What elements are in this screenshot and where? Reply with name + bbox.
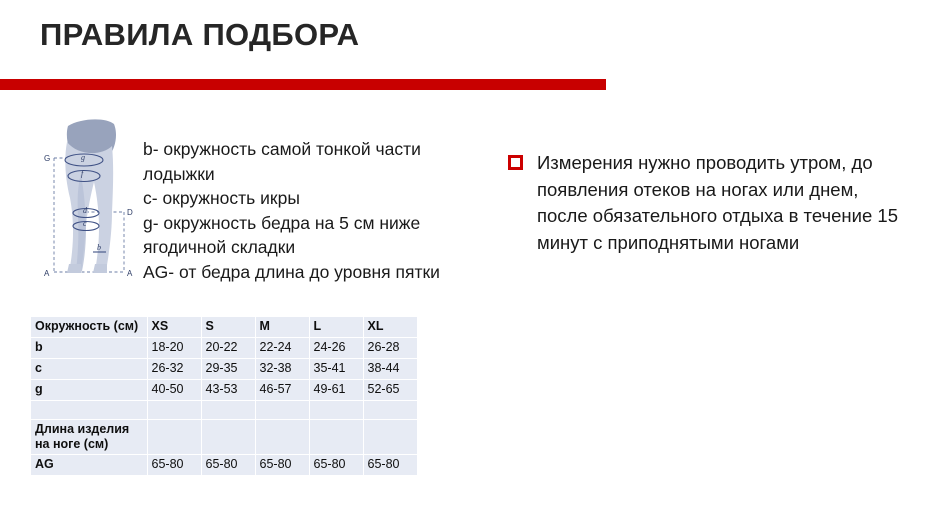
measurement-note: Измерения нужно проводить утром, до появ… [508,150,908,256]
row-label [31,401,147,420]
page-title: ПРАВИЛА ПОДБОРА [40,17,359,53]
row-value [201,420,255,455]
table-header-s: S [201,317,255,338]
diagram-marker-A-right: A [127,269,133,278]
row-value: 18-20 [147,338,201,359]
row-value: 26-32 [147,359,201,380]
row-value [201,401,255,420]
row-value: 65-80 [147,455,201,476]
table-row: AG 65-80 65-80 65-80 65-80 65-80 [31,455,417,476]
diagram-marker-G: G [44,154,50,163]
red-square-bullet-icon [508,155,523,170]
foot-right-shape [93,264,107,273]
row-value [255,401,309,420]
row-value: 65-80 [201,455,255,476]
row-value: 20-22 [201,338,255,359]
table-row: c 26-32 29-35 32-38 35-41 38-44 [31,359,417,380]
leg-measurement-diagram: g f d c b G D A A [34,112,154,297]
row-value: 24-26 [309,338,363,359]
table-spacer-row [31,401,417,420]
legend-line-c: c- окружность икры [143,186,443,211]
row-value: 49-61 [309,380,363,401]
table-row: g 40-50 43-53 46-57 49-61 52-65 [31,380,417,401]
title-underline-rule [0,79,606,90]
row-value: 35-41 [309,359,363,380]
foot-left-shape [67,264,81,273]
row-value [255,420,309,455]
row-value: 29-35 [201,359,255,380]
table-subheader-row: Длина изделия на ноге (см) [31,420,417,455]
table-header-m: M [255,317,309,338]
row-value: 40-50 [147,380,201,401]
table-header-xl: XL [363,317,417,338]
row-label: AG [31,455,147,476]
slide-canvas: ПРАВИЛА ПОДБОРА [0,0,928,505]
diagram-ring-label-g: g [81,153,85,162]
row-value: 32-38 [255,359,309,380]
row-value: 65-80 [255,455,309,476]
legend-line-g: g- окружность бедра на 5 см ниже ягодичн… [143,211,443,260]
diagram-ring-label-c: c [83,219,87,228]
table-header-l: L [309,317,363,338]
row-value [363,420,417,455]
row-value [363,401,417,420]
table-header-xs: XS [147,317,201,338]
row-value: 46-57 [255,380,309,401]
table-header-row: Окружность (см) XS S M L XL [31,317,417,338]
row-value [147,401,201,420]
table-header-measure: Окружность (см) [31,317,147,338]
row-value: 52-65 [363,380,417,401]
table-row: b 18-20 20-22 22-24 24-26 26-28 [31,338,417,359]
note-bullet-row: Измерения нужно проводить утром, до появ… [508,150,908,256]
row-value: 26-28 [363,338,417,359]
row-value: 65-80 [309,455,363,476]
row-value: 38-44 [363,359,417,380]
diagram-marker-D: D [127,208,133,217]
row-value [147,420,201,455]
row-value [309,420,363,455]
legend-line-ag: AG- от бедра длина до уровня пятки [143,260,443,285]
row-label: b [31,338,147,359]
legend-line-b: b- окружность самой тонкой части лодыжки [143,137,443,186]
row-value: 65-80 [363,455,417,476]
row-label: c [31,359,147,380]
note-text: Измерения нужно проводить утром, до появ… [537,152,898,253]
row-value [309,401,363,420]
diagram-marker-A-left: A [44,269,50,278]
row-label: g [31,380,147,401]
measurement-legend: b- окружность самой тонкой части лодыжки… [143,137,443,284]
diagram-ring-label-b: b [97,243,101,252]
row-value: 22-24 [255,338,309,359]
size-chart-table: Окружность (см) XS S M L XL b 18-20 20-2… [31,317,417,475]
row-value: 43-53 [201,380,255,401]
row-label: Длина изделия на ноге (см) [31,420,147,455]
